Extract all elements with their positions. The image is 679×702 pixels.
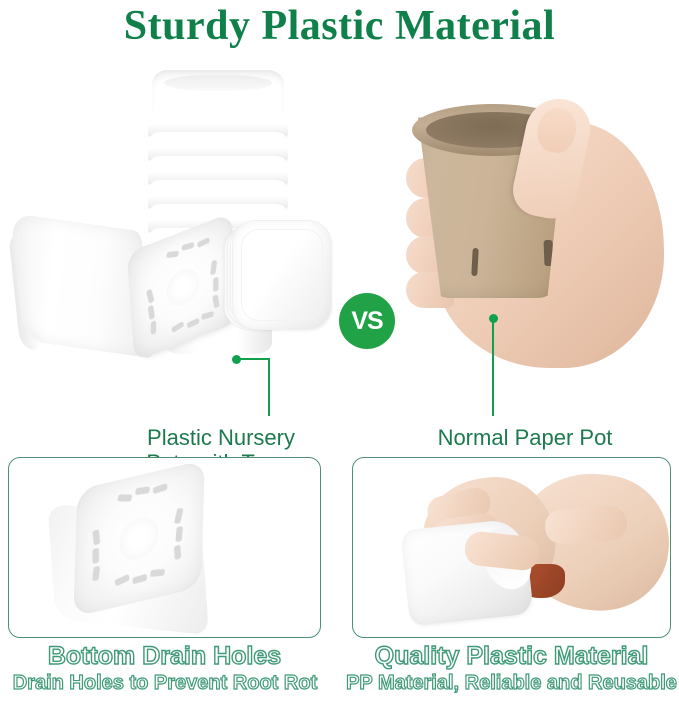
pot-underside-illustration <box>46 470 246 633</box>
drain-hole <box>213 277 218 292</box>
drain-hole <box>202 311 214 319</box>
panel-bottom-drain-holes <box>8 457 321 638</box>
vs-badge: VS <box>339 293 395 349</box>
drain-hole <box>197 237 209 247</box>
panel-left-title: Bottom Drain Holes <box>8 642 321 671</box>
drain-hole <box>182 242 194 250</box>
hands-flexing-pot-illustration <box>369 468 659 630</box>
stacked-trays <box>224 220 332 342</box>
tray-front <box>232 220 332 330</box>
paper-pot-illustration <box>400 86 679 382</box>
pot-slot <box>471 248 478 276</box>
drain-hole <box>135 487 149 495</box>
tilted-pot-with-drain-base <box>11 198 226 368</box>
drain-hole <box>166 251 178 258</box>
drain-hole <box>115 574 130 586</box>
panel-right-title: Quality Plastic Material <box>352 642 671 671</box>
drain-hole <box>174 545 181 560</box>
drain-hole <box>133 574 147 584</box>
drain-hole <box>213 294 220 308</box>
gripping-finger <box>544 505 628 545</box>
drain-hole <box>146 289 154 304</box>
base-center-hub <box>165 264 200 311</box>
panel-quality-plastic-material <box>352 457 671 638</box>
pointer-line-vertical <box>492 318 494 416</box>
panel-right-subtitle: PP Material, Reliable and Reusable <box>344 672 679 695</box>
drain-hole <box>148 305 155 320</box>
panel-left-subtitle: Drain Holes to Prevent Root Rot <box>0 672 330 695</box>
page-title: Sturdy Plastic Material <box>0 2 679 50</box>
drain-hole <box>210 260 217 275</box>
base-center-hub <box>119 513 160 563</box>
drain-hole <box>150 569 164 577</box>
drain-hole <box>174 508 183 523</box>
caption-normal-paper-pot: Normal Paper Pot <box>380 425 670 450</box>
drain-hole <box>176 526 183 542</box>
comparison-section: VS Plastic Nursery Pots with Trays Norma… <box>0 52 679 440</box>
drain-hole <box>153 483 167 493</box>
drain-hole <box>92 566 99 580</box>
drain-hole <box>187 318 199 328</box>
flexed-plastic-pot <box>400 518 533 626</box>
pointer-line-vertical <box>268 358 270 416</box>
drain-hole <box>151 321 156 335</box>
pointer-line-horizontal <box>236 358 270 360</box>
pot-base-with-holes <box>127 213 239 362</box>
drain-hole <box>117 495 132 502</box>
drain-hole <box>93 529 100 545</box>
drain-hole <box>93 548 99 564</box>
drain-hole <box>171 321 184 332</box>
